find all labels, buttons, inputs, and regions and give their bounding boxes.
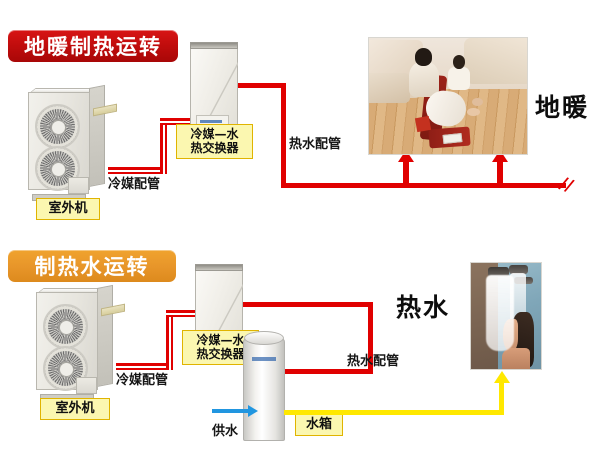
refrigerant-pipe-vertical-top (160, 118, 167, 174)
label-outdoor-unit-bottom: 室外机 (40, 398, 110, 420)
hot-water-pipe-floor-loop (281, 183, 566, 188)
fan-icon (43, 304, 88, 349)
photo-red-box (415, 116, 431, 132)
diagram-canvas: 地暖制热运转 室外机 冷媒配管 冷媒—水 热交换器 // 热水配管 (0, 0, 600, 449)
water-supply-pipe (212, 409, 250, 413)
outdoor-unit-top (28, 88, 106, 196)
label-water-tank: 水箱 (295, 414, 343, 436)
outdoor-unit-bottom (36, 288, 114, 396)
caption-hot-water: 热水 (396, 288, 450, 324)
label-hot-water-pipe-top: 热水配管 (289, 133, 341, 152)
service-panel (68, 177, 89, 194)
pipe-break-icon: // (557, 173, 576, 196)
hot-water-pipe-bottom-horizontal (243, 302, 373, 307)
hot-water-pipe-top-vertical (281, 83, 286, 188)
heat-exchanger-top (190, 42, 238, 130)
fan-icon (35, 104, 80, 149)
refrigerant-pipe-vertical-bottom (166, 310, 173, 370)
label-outdoor-unit-top: 室外机 (36, 198, 100, 220)
service-panel (76, 377, 97, 394)
label-refrigerant-pipe-top: 冷媒配管 (108, 173, 160, 192)
label-water-supply: 供水 (212, 420, 238, 439)
floor-heating-riser-left (403, 160, 409, 186)
banner-floor-heating: 地暖制热运转 (8, 30, 178, 62)
water-tank-body (243, 338, 285, 441)
label-heat-exchanger-top: 冷媒—水 热交换器 (176, 124, 253, 159)
floor-heating-riser-right (497, 160, 503, 186)
photo-floor-heating (368, 37, 528, 155)
photo-foot (467, 108, 480, 116)
photo-mother-head (415, 48, 432, 65)
photo-shower (470, 262, 542, 370)
outdoor-unit-side-panel (97, 285, 113, 387)
photo-child-body (448, 67, 470, 90)
banner-hot-water: 制热水运转 (8, 250, 176, 282)
arrow-up-icon (494, 371, 510, 383)
hot-water-out-pipe-riser (499, 382, 504, 414)
heat-exchanger-top-cap (195, 264, 243, 271)
photo-water-stream (486, 275, 514, 351)
hot-water-pipe-top-horizontal (238, 83, 286, 88)
photo-sofa-right (464, 38, 527, 84)
photo-sofa-left-seat (369, 73, 410, 103)
hot-water-pipe-to-tank (282, 369, 373, 374)
label-hot-water-pipe-bottom: 热水配管 (347, 350, 399, 369)
photo-shoulder (502, 348, 530, 370)
caption-floor-heating: 地暖 (535, 88, 589, 124)
label-refrigerant-pipe-bottom: 冷媒配管 (116, 369, 168, 388)
hot-water-out-pipe-horizontal (284, 410, 504, 415)
brand-logo (252, 357, 276, 361)
heat-exchanger-top-cap (190, 42, 238, 49)
arrow-right-icon (248, 405, 258, 417)
water-tank (243, 331, 285, 441)
outdoor-unit-side-panel (89, 85, 105, 187)
water-tank-top (244, 331, 284, 345)
